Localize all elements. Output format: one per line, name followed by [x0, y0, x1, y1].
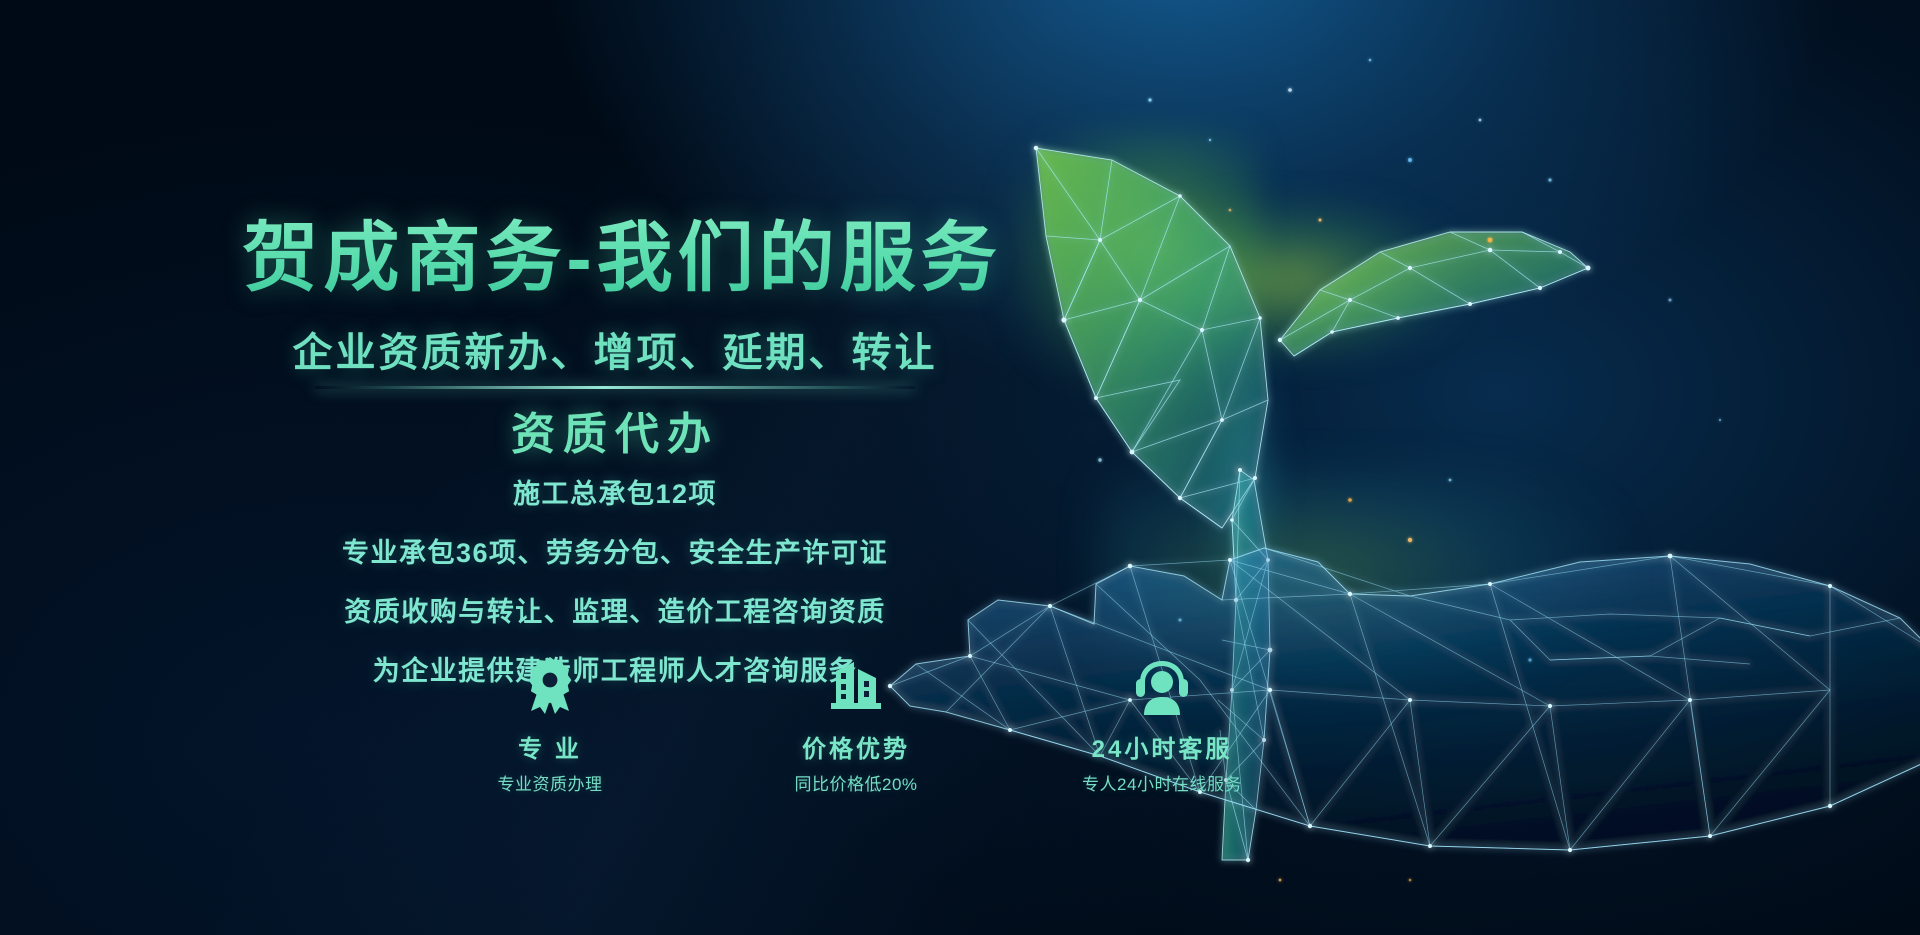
feature-title: 价格优势 [766, 729, 946, 764]
feature-item-price[interactable]: 价格优势 同比价格低20% [766, 655, 946, 795]
sprout-leaf-right [1278, 232, 1591, 356]
feature-subtitle: 同比价格低20% [766, 770, 946, 795]
headset-icon [1072, 655, 1252, 717]
building-icon [766, 655, 946, 717]
feature-title: 24小时客服 [1072, 729, 1252, 764]
feature-subtitle: 专人24小时在线服务 [1072, 770, 1252, 795]
feature-item-support[interactable]: 24小时客服 专人24小时在线服务 [1072, 655, 1252, 795]
feature-subtitle: 专业资质办理 [460, 770, 640, 795]
medal-icon [460, 655, 640, 717]
banner-title: 贺成商务-我们的服务 [0, 196, 1230, 306]
badge-title: 资质代办 [0, 398, 1230, 462]
feature-row: 专 业 专业资质办理 [460, 655, 1252, 795]
banner-subtitle: 企业资质新办、增项、延期、转让 [0, 320, 1230, 378]
service-line: 资质收购与转让、监理、造价工程咨询资质 [0, 590, 1230, 629]
service-line: 专业承包36项、劳务分包、安全生产许可证 [0, 531, 1230, 570]
content-block: 贺成商务-我们的服务 企业资质新办、增项、延期、转让 资质代办 施工总承包12项… [0, 0, 1230, 935]
feature-item-professional[interactable]: 专 业 专业资质办理 [460, 655, 640, 795]
service-line: 施工总承包12项 [0, 472, 1230, 511]
feature-title: 专 业 [460, 729, 640, 764]
divider-line [315, 386, 915, 389]
promo-banner: 贺成商务-我们的服务 企业资质新办、增项、延期、转让 资质代办 施工总承包12项… [0, 0, 1920, 935]
